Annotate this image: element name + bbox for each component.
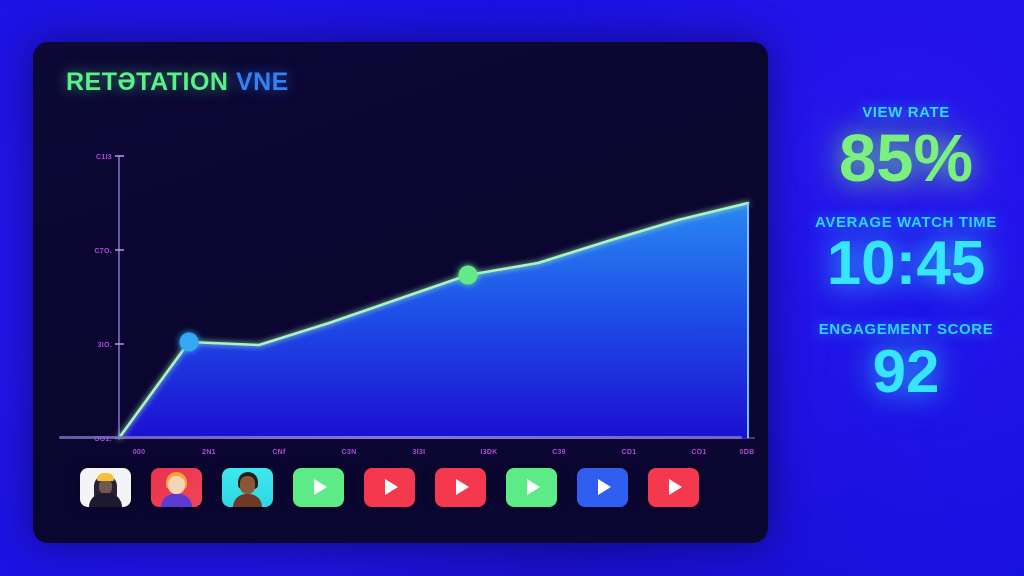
stat-average-watch-time: AVERAGE WATCH TIME 10:45 xyxy=(790,214,1022,295)
x-tick-label: CO1 xyxy=(691,449,706,456)
avatar-hat-icon xyxy=(97,473,114,481)
stat-label: VIEW RATE xyxy=(790,104,1022,121)
play-icon xyxy=(456,479,469,495)
avatar-thumbnail-1[interactable] xyxy=(80,468,131,507)
chart-area-fill xyxy=(119,203,748,438)
video-thumbnail-red-3[interactable] xyxy=(648,468,699,507)
page-title: RETƏTATION VNE xyxy=(66,68,289,97)
play-icon xyxy=(598,479,611,495)
x-tick-label: CD1 xyxy=(622,449,637,456)
video-thumbnail-red-1[interactable] xyxy=(364,468,415,507)
avatar-torso xyxy=(161,494,192,507)
retention-chart[interactable]: C1I3 C7O. 3IO. OO1. 000 2N1 CNf C3N 3I3I… xyxy=(33,108,768,463)
avatar-torso xyxy=(89,493,122,507)
chart-svg: C1I3 C7O. 3IO. OO1. 000 2N1 CNf C3N 3I3I… xyxy=(33,108,768,463)
play-icon xyxy=(527,479,540,495)
stat-engagement-score: ENGAGEMENT SCORE 92 xyxy=(790,321,1022,402)
video-thumbnail-blue-1[interactable] xyxy=(577,468,628,507)
stat-label: ENGAGEMENT SCORE xyxy=(790,321,1022,338)
chart-x-ticks: 000 2N1 CNf C3N 3I3I I3DK C39 CD1 CO1 0D… xyxy=(133,449,755,456)
x-tick-label: 3I3I xyxy=(413,449,426,456)
thumbnail-strip xyxy=(53,457,753,517)
stats-panel: VIEW RATE 85% AVERAGE WATCH TIME 10:45 E… xyxy=(790,104,1022,474)
chart-marker-1[interactable] xyxy=(180,333,199,352)
video-thumbnail-green-1[interactable] xyxy=(293,468,344,507)
x-tick-label: 2N1 xyxy=(202,449,216,456)
video-thumbnail-red-2[interactable] xyxy=(435,468,486,507)
stat-value: 85% xyxy=(790,125,1022,192)
video-thumbnail-green-2[interactable] xyxy=(506,468,557,507)
x-tick-label: 0DB xyxy=(740,449,755,456)
avatar-face xyxy=(99,479,112,494)
x-tick-label: C3N xyxy=(342,449,357,456)
avatar-face xyxy=(168,476,185,494)
analytics-card: RETƏTATION VNE xyxy=(33,42,768,543)
x-tick-label: 000 xyxy=(133,449,146,456)
play-icon xyxy=(385,479,398,495)
x-tick-label: I3DK xyxy=(480,449,497,456)
x-tick-label: C39 xyxy=(552,449,566,456)
y-tick-label: C7O. xyxy=(94,248,112,255)
chart-marker-2[interactable] xyxy=(459,266,478,285)
x-tick-label: CNf xyxy=(272,449,286,456)
avatar-thumbnail-2[interactable] xyxy=(151,468,202,507)
play-icon xyxy=(669,479,682,495)
stat-value: 92 xyxy=(790,342,1022,402)
stat-value: 10:45 xyxy=(790,233,1022,295)
y-tick-label: C1I3 xyxy=(96,154,112,161)
y-tick-label: 3IO. xyxy=(98,342,112,349)
section-divider xyxy=(59,436,742,439)
play-icon xyxy=(314,479,327,495)
avatar-torso xyxy=(233,494,262,507)
stat-view-rate: VIEW RATE 85% xyxy=(790,104,1022,192)
avatar-face xyxy=(240,476,255,494)
avatar-thumbnail-3[interactable] xyxy=(222,468,273,507)
page-title-primary: RETƏTATION xyxy=(66,68,228,96)
page-title-secondary: VNE xyxy=(236,68,289,96)
